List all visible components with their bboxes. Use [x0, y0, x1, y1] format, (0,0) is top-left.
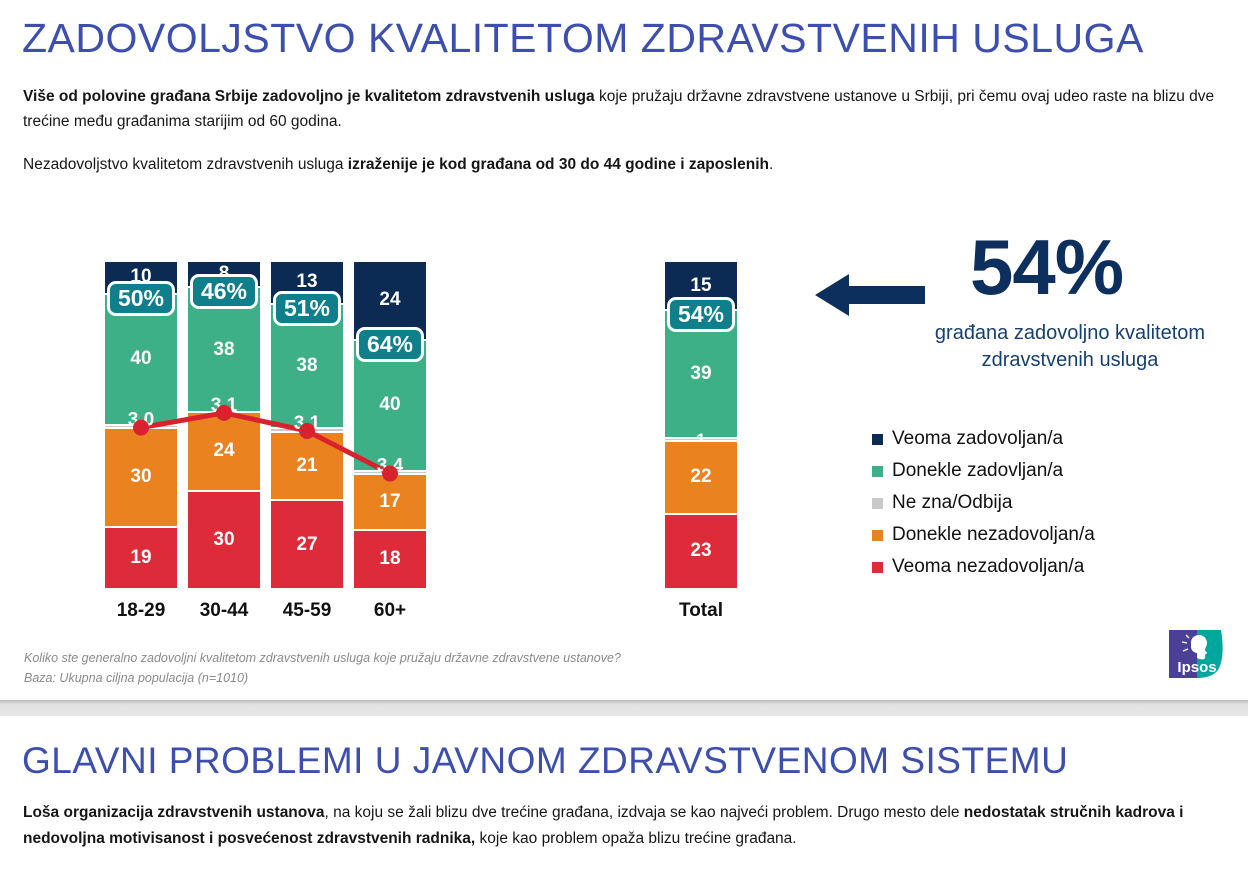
chart-footnote: Koliko ste generalno zadovoljni kvalitet…: [24, 648, 621, 688]
problems-end: koje kao problem opaža blizu trećine gra…: [475, 830, 796, 847]
bar-segment-value: 27: [271, 534, 343, 556]
bar-segment-value: 18: [354, 548, 426, 570]
legend-swatch-icon: [872, 562, 883, 573]
problems-bold-1: Loša organizacija zdravstvenih ustanova: [23, 804, 325, 821]
bar-segment: 27: [271, 501, 343, 590]
satisfied-percent-badge: 50%: [107, 281, 175, 316]
bar-segment-value: 24: [188, 440, 260, 462]
bar-segment-value: 40: [105, 348, 177, 370]
legend-swatch-icon: [872, 434, 883, 445]
bar-segment-value: 22: [665, 466, 737, 488]
bar-segment: 23: [665, 515, 737, 590]
bar-segment-value: 15: [665, 275, 737, 297]
problems-paragraph: Loša organizacija zdravstvenih ustanova,…: [23, 800, 1230, 852]
bar-segment: 17: [354, 475, 426, 531]
legend-item[interactable]: Ne zna/Odbija: [872, 487, 1095, 519]
legend-item[interactable]: Veoma zadovoljan/a: [872, 423, 1095, 455]
intro-p2-post: .: [769, 156, 773, 173]
bar-segment-value: 24: [354, 289, 426, 311]
bar-segment-value: 40: [354, 394, 426, 416]
average-score-line: [141, 413, 390, 474]
footnote-question: Koliko ste generalno zadovoljni kvalitet…: [24, 648, 621, 668]
bar-segment-value: 23: [665, 540, 737, 562]
chart-legend: Veoma zadovoljan/aDonekle zadovljan/aNe …: [872, 423, 1095, 583]
callout-description: građana zadovoljno kvalitetom zdravstven…: [910, 320, 1230, 374]
intro-p2-pre: Nezadovoljstvo kvalitetom zdravstvenih u…: [23, 156, 348, 173]
page-title-2: GLAVNI PROBLEMI U JAVNOM ZDRAVSTVENOM SI…: [22, 740, 1068, 782]
bar-segment-value: 19: [105, 547, 177, 569]
x-axis-label: 60+: [354, 600, 426, 622]
section-divider: [0, 700, 1248, 716]
bar-segment-value: 30: [105, 466, 177, 488]
page-title: ZADOVOLJSTVO KVALITETOM ZDRAVSTVENIH USL…: [22, 15, 1144, 62]
intro-p2-bold: izraženije je kod građana od 30 do 44 go…: [348, 156, 769, 173]
legend-label: Veoma zadovoljan/a: [892, 428, 1063, 450]
bar-segment: 22: [665, 442, 737, 514]
bar-segment-value: 30: [188, 529, 260, 551]
bar-segment: 30: [188, 492, 260, 590]
legend-label: Donekle zadovljan/a: [892, 460, 1063, 482]
bar-segment: 30: [105, 429, 177, 527]
ipsos-logo-icon: Ipsos: [1167, 628, 1227, 680]
legend-label: Donekle nezadovoljan/a: [892, 524, 1095, 546]
bar-column-30-44[interactable]: 8382430: [188, 262, 260, 590]
ipsos-logo: Ipsos: [1167, 628, 1227, 680]
satisfied-percent-badge: 64%: [356, 327, 424, 362]
satisfied-percent-badge: 51%: [273, 291, 341, 326]
satisfied-percent-badge: 46%: [190, 274, 258, 309]
bar-segment: 21: [271, 433, 343, 502]
bar-segment: 18: [354, 531, 426, 590]
intro-paragraph-2: Nezadovoljstvo kvalitetom zdravstvenih u…: [23, 152, 1228, 177]
legend-label: Ne zna/Odbija: [892, 492, 1012, 514]
bar-segment-value: 39: [665, 363, 737, 385]
legend-item[interactable]: Veoma nezadovoljan/a: [872, 551, 1095, 583]
legend-swatch-icon: [872, 466, 883, 477]
bar-segment: 24: [188, 413, 260, 492]
legend-swatch-icon: [872, 530, 883, 541]
svg-text:Ipsos: Ipsos: [1177, 659, 1216, 676]
legend-label: Veoma nezadovoljan/a: [892, 556, 1084, 578]
x-axis-label: Total: [665, 600, 737, 622]
intro-paragraph-1: Više od polovine građana Srbije zadovolj…: [23, 84, 1228, 134]
x-axis-label: 45-59: [271, 600, 343, 622]
footnote-base: Baza: Ukupna ciljna populacija (n=1010): [24, 668, 621, 688]
intro-p1-bold: Više od polovine građana Srbije zadovolj…: [23, 88, 595, 105]
legend-item[interactable]: Donekle nezadovoljan/a: [872, 519, 1095, 551]
bar-segment-value: 38: [188, 339, 260, 361]
bar-column-60-[interactable]: 244011718: [354, 262, 426, 590]
callout-value: 54%: [970, 228, 1123, 306]
bar-segment-value: 17: [354, 491, 426, 513]
bar-segment-value: 38: [271, 355, 343, 377]
satisfied-percent-badge: 54%: [667, 297, 735, 332]
bar-segment-value: 21: [271, 455, 343, 477]
legend-swatch-icon: [872, 498, 883, 509]
legend-item[interactable]: Donekle zadovljan/a: [872, 455, 1095, 487]
arrow-left-icon: [815, 272, 925, 318]
problems-mid-1: , na koju se žali blizu dve trećine građ…: [325, 804, 964, 821]
x-axis-label: 18-29: [105, 600, 177, 622]
bar-segment: 19: [105, 528, 177, 590]
x-axis-label: 30-44: [188, 600, 260, 622]
slide-satisfaction: ZADOVOLJSTVO KVALITETOM ZDRAVSTVENIH USL…: [0, 0, 1248, 700]
